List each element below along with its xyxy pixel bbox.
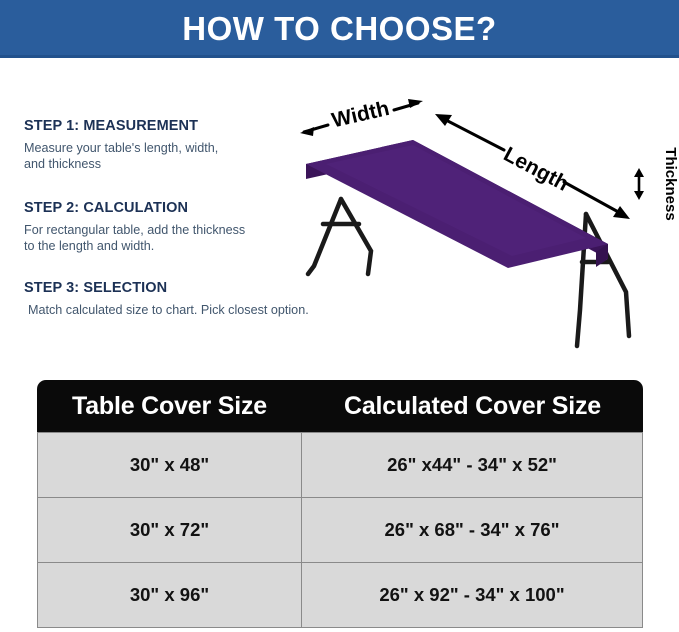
page-title: HOW TO CHOOSE?	[0, 0, 679, 58]
length-label: Length	[500, 143, 573, 196]
thickness-arrow-head-bottom	[634, 191, 644, 200]
length-arrow-left-head	[435, 114, 452, 126]
folding-table-diagram: Width Length Thickness	[296, 96, 679, 366]
cell-calculated-cover-size: 26" x44" - 34" x 52"	[302, 432, 643, 498]
cell-table-cover-size: 30" x 72"	[37, 498, 302, 563]
thickness-arrow-head-top	[634, 168, 644, 177]
cell-table-cover-size: 30" x 96"	[37, 563, 302, 628]
cell-calculated-cover-size: 26" x 92" - 34" x 100"	[302, 563, 643, 628]
length-arrow-left-line	[442, 118, 504, 150]
length-arrow-right-line	[564, 182, 622, 214]
table-header-row: Table Cover Size Calculated Cover Size	[37, 380, 643, 432]
step-1-body: Measure your table's length, width, and …	[24, 140, 324, 172]
size-chart-table: Table Cover Size Calculated Cover Size 3…	[37, 380, 643, 628]
table-row: 30" x 72" 26" x 68" - 34" x 76"	[37, 498, 643, 563]
width-dimension: Width	[300, 97, 423, 136]
cell-calculated-cover-size: 26" x 68" - 34" x 76"	[302, 498, 643, 563]
table-row: 30" x 96" 26" x 92" - 34" x 100"	[37, 563, 643, 628]
cell-table-cover-size: 30" x 48"	[37, 432, 302, 498]
length-arrow-right-head	[613, 206, 630, 219]
step-2-calculation: STEP 2: CALCULATION For rectangular tabl…	[24, 200, 334, 254]
thickness-dimension: Thickness	[634, 147, 679, 220]
width-arrow-left-head	[300, 127, 314, 136]
column-header-calculated-cover-size: Calculated Cover Size	[302, 380, 643, 432]
thickness-label: Thickness	[662, 147, 679, 220]
table-row: 30" x 48" 26" x44" - 34" x 52"	[37, 432, 643, 498]
step-2-heading: STEP 2: CALCULATION	[24, 200, 334, 216]
header-banner: HOW TO CHOOSE?	[0, 0, 679, 58]
step-1-measurement: STEP 1: MEASUREMENT Measure your table's…	[24, 118, 324, 172]
step-1-heading: STEP 1: MEASUREMENT	[24, 118, 324, 134]
column-header-table-cover-size: Table Cover Size	[37, 380, 302, 432]
width-arrow-right-head	[408, 99, 423, 108]
step-2-body: For rectangular table, add the thickness…	[24, 222, 334, 254]
width-label: Width	[330, 97, 392, 132]
